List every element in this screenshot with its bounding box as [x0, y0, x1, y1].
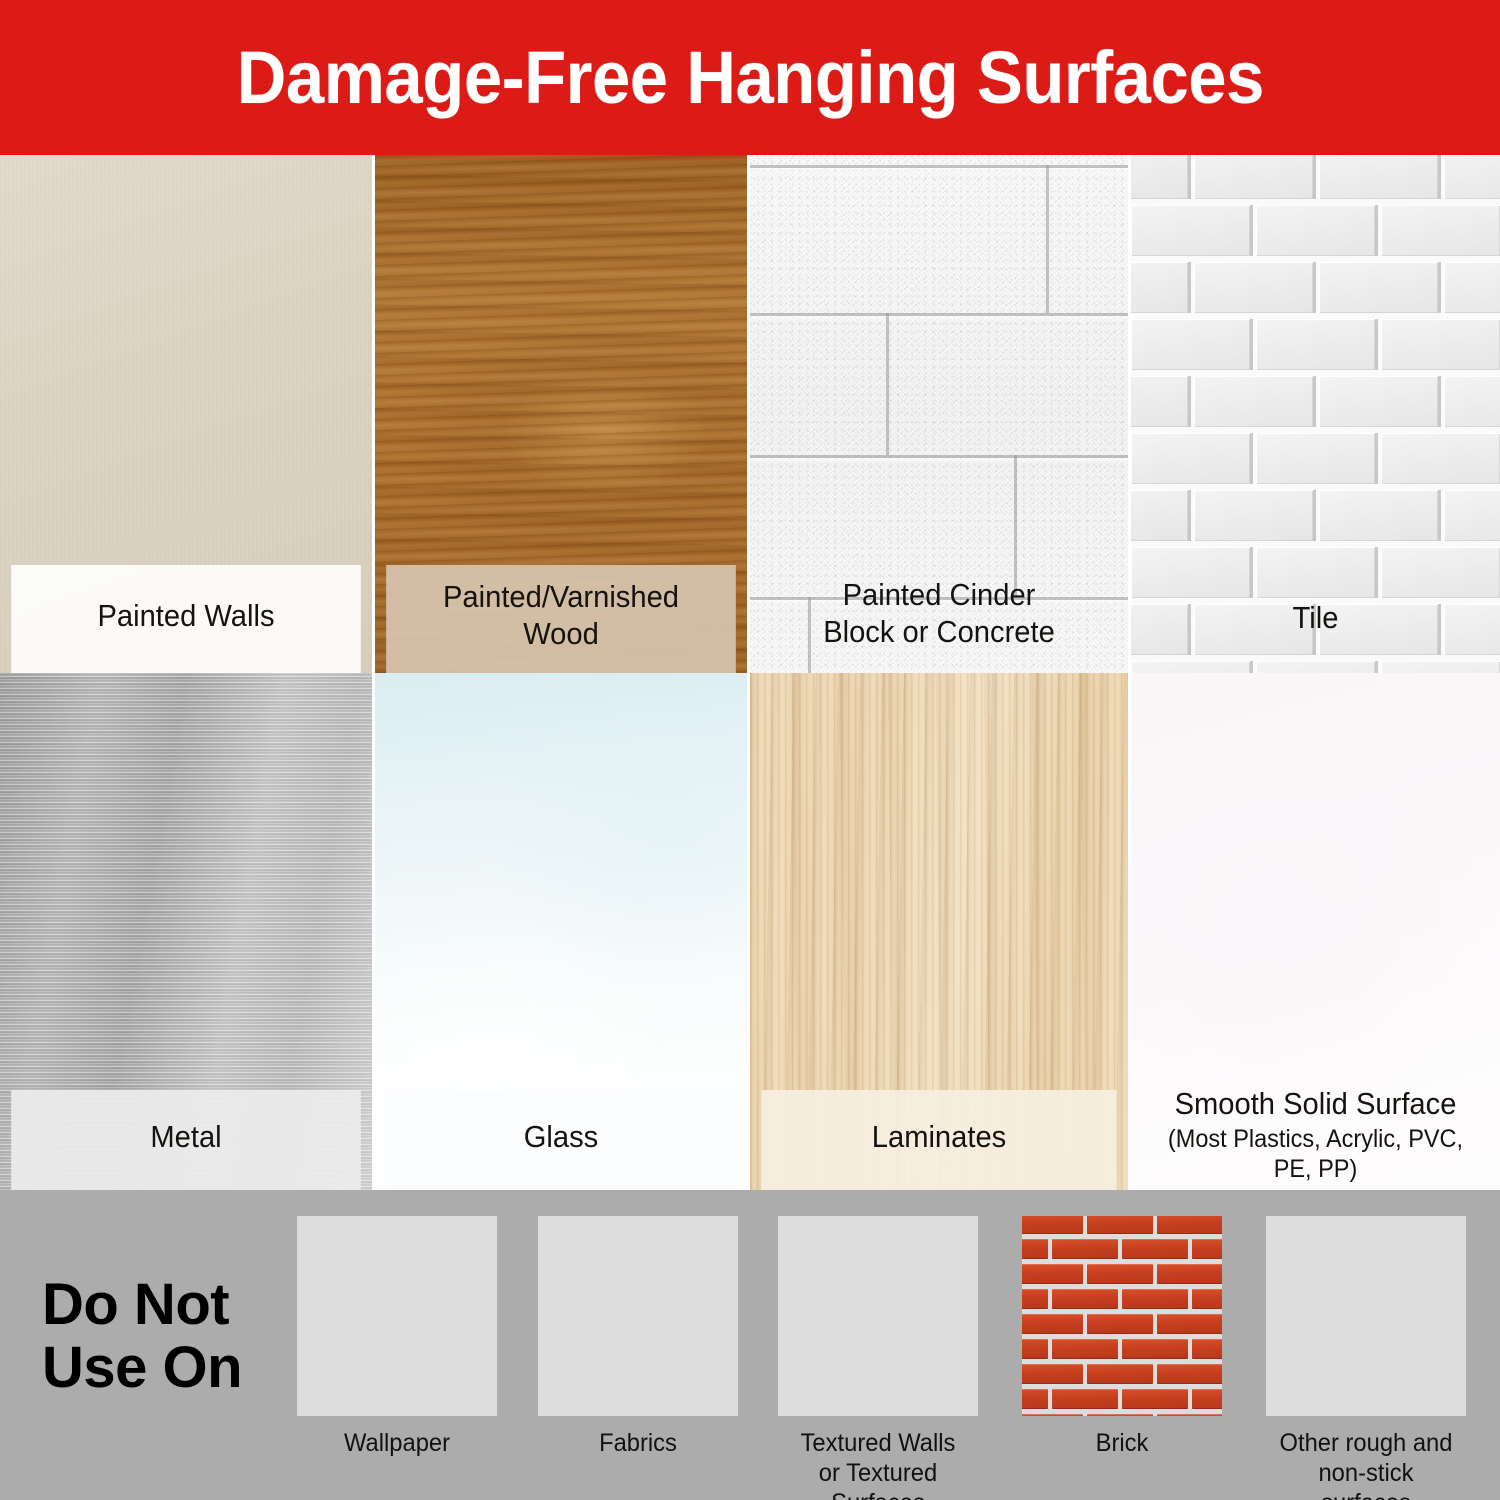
surface-label-glass: Glass — [386, 1090, 736, 1190]
do-not-use-label-line1: Other rough and — [1271, 1428, 1461, 1458]
do-not-use-item-rough-surfaces: Other rough and non-stick surfaces — [1266, 1216, 1466, 1500]
do-not-use-item-brick: Brick — [1022, 1216, 1222, 1458]
surface-label-tile: Tile — [1142, 569, 1489, 673]
do-not-use-label: Wallpaper — [302, 1428, 492, 1458]
surface-row-2: Metal Glass Laminates S — [0, 673, 1500, 1190]
do-not-use-label-line1: Brick — [1027, 1428, 1217, 1458]
surface-tile-varnished-wood: Painted/Varnished Wood — [375, 155, 747, 673]
surface-label-varnished-wood: Painted/Varnished Wood — [386, 565, 736, 673]
approved-surfaces-grid: Painted Walls Painted/Varnished Wood — [0, 155, 1500, 1190]
red-brick-texture — [1022, 1216, 1222, 1416]
surface-tile-tile: Tile — [1131, 155, 1500, 673]
surface-row-1: Painted Walls Painted/Varnished Wood — [0, 155, 1500, 673]
do-not-use-label-line2: or Textured Surfaces — [783, 1458, 973, 1500]
surface-label-text-line2: Wood — [523, 616, 599, 653]
do-not-use-label-line1: Wallpaper — [302, 1428, 492, 1458]
do-not-use-title-line1: Do Not — [42, 1274, 242, 1337]
surface-label-metal: Metal — [11, 1090, 361, 1190]
do-not-use-item-fabrics: Fabrics — [538, 1216, 738, 1458]
do-not-use-label: Other rough and non-stick surfaces — [1271, 1428, 1461, 1500]
surface-label-text: Metal — [150, 1119, 221, 1156]
denim-fabric-texture — [538, 1216, 738, 1416]
surface-label-text: Painted/Varnished — [443, 579, 679, 616]
do-not-use-item-wallpaper: Wallpaper — [297, 1216, 497, 1458]
do-not-use-item-textured-walls: Textured Walls or Textured Surfaces — [778, 1216, 978, 1500]
header-banner: Damage-Free Hanging Surfaces — [0, 0, 1500, 155]
damage-free-hanging-surfaces-infographic: Damage-Free Hanging Surfaces Painted Wal… — [0, 0, 1500, 1500]
wallpaper-texture — [297, 1216, 497, 1416]
surface-label-painted-walls: Painted Walls — [11, 565, 361, 673]
surface-tile-metal: Metal — [0, 673, 372, 1190]
textured-wall-texture — [778, 1216, 978, 1416]
do-not-use-label-line1: Textured Walls — [783, 1428, 973, 1458]
do-not-use-title: Do Not Use On — [42, 1274, 242, 1399]
rough-stucco-texture — [1266, 1216, 1466, 1416]
surface-label-text: Painted Cinder — [843, 577, 1036, 614]
surface-label-text: Painted Walls — [97, 598, 274, 635]
do-not-use-label: Brick — [1027, 1428, 1217, 1458]
surface-label-text: Glass — [524, 1119, 598, 1156]
do-not-use-section: Do Not Use On Wallpaper Fabrics Textured… — [0, 1190, 1500, 1500]
surface-tile-smooth-solid-surface: Smooth Solid Surface (Most Plastics, Acr… — [1131, 673, 1500, 1190]
surface-label-text: Smooth Solid Surface — [1175, 1086, 1457, 1123]
surface-tile-laminates: Laminates — [750, 673, 1128, 1190]
surface-label-text: Tile — [1293, 600, 1339, 637]
surface-tile-painted-walls: Painted Walls — [0, 155, 372, 673]
surface-tile-cinder-block: Painted Cinder Block or Concrete — [750, 155, 1128, 673]
surface-label-laminates: Laminates — [761, 1090, 1116, 1190]
do-not-use-label: Textured Walls or Textured Surfaces — [783, 1428, 973, 1500]
do-not-use-label-line2: non-stick surfaces — [1271, 1458, 1461, 1500]
surface-label-smooth-solid-surface: Smooth Solid Surface (Most Plastics, Acr… — [1142, 1086, 1489, 1190]
do-not-use-label-line1: Fabrics — [543, 1428, 733, 1458]
surface-label-text: Laminates — [872, 1119, 1006, 1156]
surface-sublabel-text: (Most Plastics, Acrylic, PVC, PE, PP) — [1148, 1124, 1484, 1184]
do-not-use-title-line2: Use On — [42, 1337, 242, 1400]
surface-label-text-line2: Block or Concrete — [823, 614, 1055, 651]
do-not-use-label: Fabrics — [543, 1428, 733, 1458]
page-title: Damage-Free Hanging Surfaces — [236, 41, 1263, 115]
surface-tile-glass: Glass — [375, 673, 747, 1190]
surface-label-cinder-block: Painted Cinder Block or Concrete — [761, 561, 1116, 673]
